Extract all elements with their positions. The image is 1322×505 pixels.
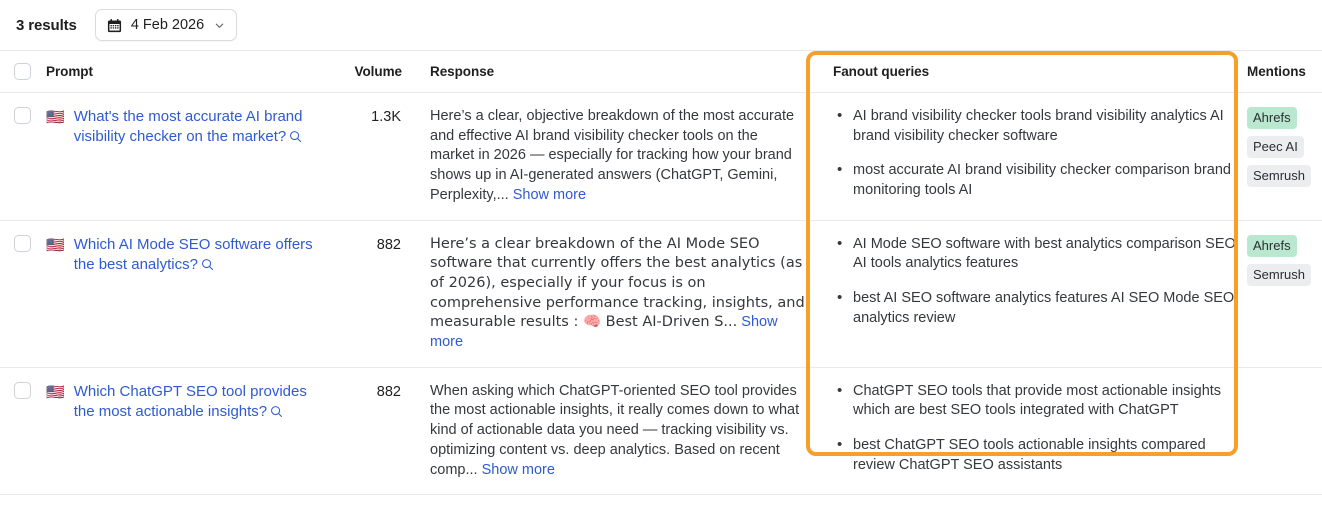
country-flag-icon: 🇺🇸 bbox=[46, 382, 65, 403]
response-cell: Here’s a clear breakdown of the AI Mode … bbox=[402, 235, 806, 353]
volume-cell: 882 bbox=[330, 235, 402, 255]
row-select-cell bbox=[0, 235, 46, 252]
prompt-cell: 🇺🇸 Which ChatGPT SEO tool provides the m… bbox=[46, 382, 330, 423]
fanout-queries-cell: AI brand visibility checker tools brand … bbox=[806, 107, 1238, 201]
show-more-link[interactable]: Show more bbox=[513, 187, 586, 203]
fanout-query-item: best ChatGPT SEO tools actionable insigh… bbox=[833, 436, 1238, 475]
table-header-row: Prompt Volume Response Fanout queries Me… bbox=[0, 51, 1322, 92]
mentions-cell: Ahrefs Peec AI Semrush bbox=[1238, 107, 1322, 194]
results-table: Prompt Volume Response Fanout queries Me… bbox=[0, 50, 1322, 495]
select-all-checkbox[interactable] bbox=[14, 63, 31, 80]
prompt-cell: 🇺🇸 Which AI Mode SEO software offers the… bbox=[46, 235, 330, 276]
toolbar: 3 results 4 Feb 2026 bbox=[0, 0, 1322, 50]
prompt-cell: 🇺🇸 What's the most accurate AI brand vis… bbox=[46, 107, 330, 148]
country-flag-icon: 🇺🇸 bbox=[46, 235, 65, 256]
prompt-link[interactable]: Which AI Mode SEO software offers the be… bbox=[74, 236, 313, 273]
column-header-volume[interactable]: Volume bbox=[330, 64, 402, 79]
fanout-query-list: AI Mode SEO software with best analytics… bbox=[833, 235, 1238, 329]
country-flag-icon: 🇺🇸 bbox=[46, 107, 65, 128]
search-icon[interactable] bbox=[289, 130, 302, 148]
fanout-query-list: AI brand visibility checker tools brand … bbox=[833, 107, 1238, 201]
response-text: Here’s a clear, objective breakdown of t… bbox=[430, 108, 794, 203]
volume-cell: 1.3K bbox=[330, 107, 402, 127]
divider bbox=[0, 494, 1322, 495]
response-cell: Here’s a clear, objective breakdown of t… bbox=[402, 107, 806, 206]
search-icon[interactable] bbox=[270, 405, 283, 423]
mention-badge[interactable]: Ahrefs bbox=[1247, 235, 1297, 257]
response-cell: When asking which ChatGPT-oriented SEO t… bbox=[402, 382, 806, 481]
mention-badge[interactable]: Ahrefs bbox=[1247, 107, 1297, 129]
column-header-response[interactable]: Response bbox=[402, 64, 806, 79]
fanout-query-item: most accurate AI brand visibility checke… bbox=[833, 161, 1238, 200]
date-picker-label: 4 Feb 2026 bbox=[131, 17, 204, 33]
fanout-query-item: AI brand visibility checker tools brand … bbox=[833, 107, 1238, 146]
row-checkbox[interactable] bbox=[14, 382, 31, 399]
fanout-query-item: ChatGPT SEO tools that provide most acti… bbox=[833, 382, 1238, 421]
column-header-fanout-queries[interactable]: Fanout queries bbox=[806, 64, 1238, 79]
chevron-down-icon bbox=[214, 20, 225, 31]
date-picker-button[interactable]: 4 Feb 2026 bbox=[95, 9, 237, 41]
column-header-mentions[interactable]: Mentions bbox=[1238, 64, 1322, 79]
mention-badge[interactable]: Semrush bbox=[1247, 264, 1311, 286]
row-checkbox[interactable] bbox=[14, 235, 31, 252]
mentions-cell: Ahrefs Semrush bbox=[1238, 235, 1322, 293]
row-select-cell bbox=[0, 107, 46, 124]
results-count: 3 results bbox=[16, 17, 77, 34]
show-more-link[interactable]: Show more bbox=[482, 462, 555, 478]
column-header-prompt[interactable]: Prompt bbox=[46, 64, 330, 79]
volume-cell: 882 bbox=[330, 382, 402, 402]
table-row: 🇺🇸 Which ChatGPT SEO tool provides the m… bbox=[0, 368, 1322, 495]
calendar-icon bbox=[107, 18, 122, 33]
volume-value: 882 bbox=[377, 237, 402, 253]
row-checkbox[interactable] bbox=[14, 107, 31, 124]
mention-badge[interactable]: Semrush bbox=[1247, 165, 1311, 187]
volume-value: 1.3K bbox=[371, 109, 402, 125]
table-row: 🇺🇸 Which AI Mode SEO software offers the… bbox=[0, 221, 1322, 367]
fanout-queries-cell: AI Mode SEO software with best analytics… bbox=[806, 235, 1238, 329]
search-icon[interactable] bbox=[201, 258, 214, 276]
select-all-cell bbox=[0, 63, 46, 80]
fanout-query-list: ChatGPT SEO tools that provide most acti… bbox=[833, 382, 1238, 476]
fanout-queries-cell: ChatGPT SEO tools that provide most acti… bbox=[806, 382, 1238, 476]
table-row: 🇺🇸 What's the most accurate AI brand vis… bbox=[0, 93, 1322, 220]
row-select-cell bbox=[0, 382, 46, 399]
fanout-query-item: AI Mode SEO software with best analytics… bbox=[833, 235, 1238, 274]
fanout-query-item: best AI SEO software analytics features … bbox=[833, 289, 1238, 328]
volume-value: 882 bbox=[377, 384, 402, 400]
prompt-link[interactable]: What's the most accurate AI brand visibi… bbox=[74, 108, 303, 145]
mention-badge[interactable]: Peec AI bbox=[1247, 136, 1304, 158]
